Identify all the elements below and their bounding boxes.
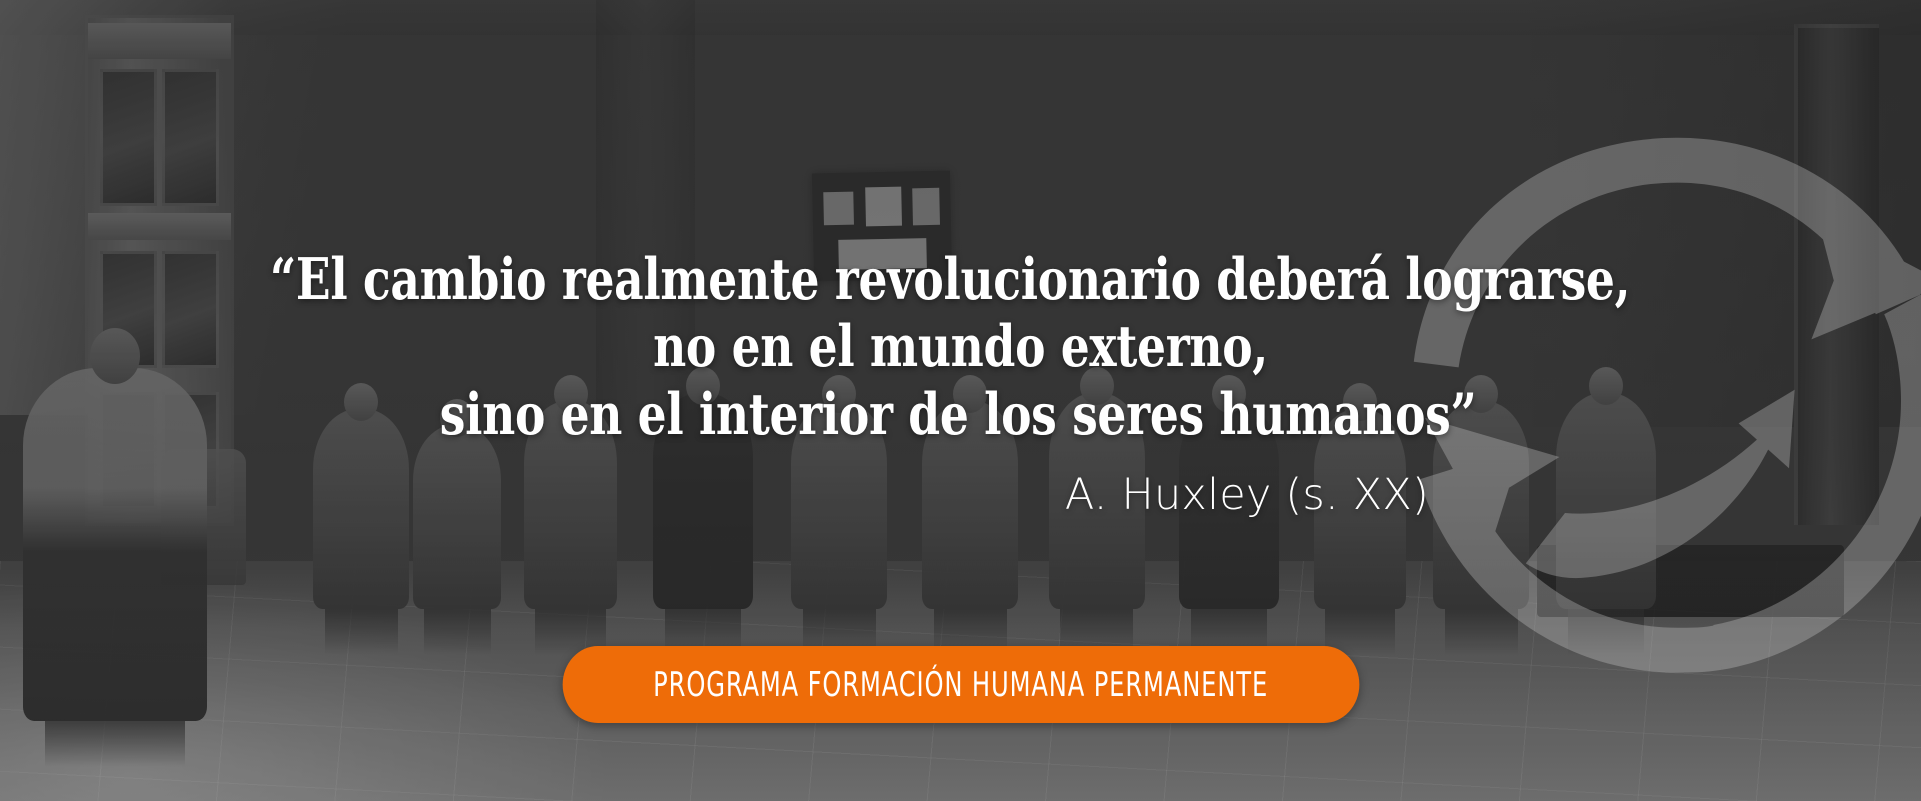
quote-attribution: A. Huxley (s. XX)	[1065, 470, 1429, 520]
cta-container: PROGRAMA FORMACIÓN HUMANA PERMANENTE	[0, 646, 1921, 723]
quote-line-3: sino en el interior de los seres humanos…	[187, 381, 1729, 448]
quote-text: “El cambio realmente revolucionario debe…	[192, 246, 1729, 448]
cta-label: PROGRAMA FORMACIÓN HUMANA PERMANENTE	[653, 665, 1268, 705]
quote-line-1: “El cambio realmente revolucionario debe…	[171, 246, 1729, 313]
hero-banner: “El cambio realmente revolucionario debe…	[0, 0, 1921, 801]
banner-content: “El cambio realmente revolucionario debe…	[0, 0, 1921, 801]
programa-formacion-humana-permanente-button[interactable]: PROGRAMA FORMACIÓN HUMANA PERMANENTE	[562, 646, 1359, 723]
quote-line-2: no en el mundo externo,	[192, 313, 1729, 380]
